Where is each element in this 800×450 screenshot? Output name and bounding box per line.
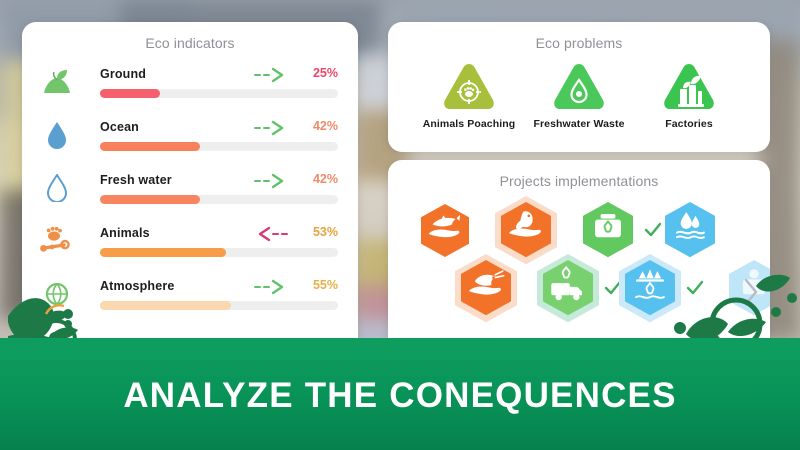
indicator-row[interactable]: Fresh water 42% bbox=[40, 171, 338, 224]
eco-indicators-list: Ground 25% Ocean 42% Fresh water bbox=[22, 51, 358, 330]
eco-indicators-card: Eco indicators Ground 25% Ocean 42% bbox=[22, 22, 358, 352]
eco-indicators-title: Eco indicators bbox=[22, 22, 358, 51]
trend-up-icon bbox=[254, 67, 288, 83]
eco-problem-label: Freshwater Waste bbox=[527, 118, 631, 130]
bottom-banner: ANALYZE THE CONEQUENCES bbox=[0, 338, 800, 450]
indicator-label: Ground bbox=[100, 67, 146, 81]
projects-card: Projects implementations bbox=[388, 160, 770, 352]
water-drop-icon bbox=[551, 61, 607, 113]
indicator-label: Animals bbox=[100, 226, 150, 240]
eco-problems-title: Eco problems bbox=[388, 22, 770, 51]
sprout-icon bbox=[40, 67, 74, 97]
atmosphere-icon bbox=[40, 279, 74, 309]
paw-track-icon bbox=[40, 226, 74, 256]
indicator-row[interactable]: Animals 53% bbox=[40, 224, 338, 277]
indicator-percent: 42% bbox=[290, 119, 338, 133]
trend-up-icon bbox=[254, 120, 288, 136]
trend-down-icon bbox=[254, 226, 288, 242]
indicator-progress-track bbox=[100, 89, 338, 98]
eco-problem-item[interactable]: Freshwater Waste bbox=[527, 61, 631, 130]
indicator-progress-track bbox=[100, 248, 338, 257]
indicator-row[interactable]: Atmosphere 55% bbox=[40, 277, 338, 330]
projects-grid bbox=[388, 189, 770, 339]
indicator-progress-track bbox=[100, 142, 338, 151]
paw-crosshair-icon bbox=[441, 61, 497, 113]
indicator-progress-fill bbox=[100, 195, 200, 204]
eco-problems-list: Animals Poaching Freshwater Waste Factor… bbox=[388, 51, 770, 130]
chevron-right-icon[interactable] bbox=[742, 277, 760, 312]
indicator-percent: 42% bbox=[290, 172, 338, 186]
water-drop-outline-icon bbox=[40, 173, 74, 203]
indicator-progress-fill bbox=[100, 301, 231, 310]
eco-problem-label: Factories bbox=[637, 118, 741, 130]
trend-up-icon bbox=[254, 173, 288, 189]
eco-problems-card: Eco problems Animals Poaching Freshwater… bbox=[388, 22, 770, 152]
indicator-progress-track bbox=[100, 301, 338, 310]
factory-icon bbox=[661, 61, 717, 113]
indicator-label: Ocean bbox=[100, 120, 139, 134]
indicator-progress-fill bbox=[100, 89, 160, 98]
indicator-row[interactable]: Ground 25% bbox=[40, 65, 338, 118]
project-check-icon bbox=[686, 279, 704, 302]
trend-up-icon bbox=[254, 279, 288, 295]
indicator-percent: 53% bbox=[290, 225, 338, 239]
eco-problem-item[interactable]: Animals Poaching bbox=[417, 61, 521, 130]
project-hex[interactable] bbox=[624, 259, 676, 321]
indicator-percent: 25% bbox=[290, 66, 338, 80]
eco-problem-item[interactable]: Factories bbox=[637, 61, 741, 130]
indicator-progress-track bbox=[100, 195, 338, 204]
app-screenshot: Eco indicators Ground 25% Ocean 42% bbox=[0, 0, 800, 450]
water-drop-filled-icon bbox=[40, 120, 74, 150]
project-hex[interactable] bbox=[542, 259, 594, 321]
eco-problem-label: Animals Poaching bbox=[417, 118, 521, 130]
indicator-row[interactable]: Ocean 42% bbox=[40, 118, 338, 171]
indicator-progress-fill bbox=[100, 248, 226, 257]
project-check-icon bbox=[644, 221, 662, 244]
indicator-label: Fresh water bbox=[100, 173, 172, 187]
project-hex[interactable] bbox=[460, 259, 512, 321]
indicator-progress-fill bbox=[100, 142, 200, 151]
projects-title: Projects implementations bbox=[388, 160, 770, 189]
indicator-label: Atmosphere bbox=[100, 279, 174, 293]
banner-text: ANALYZE THE CONEQUENCES bbox=[0, 376, 800, 416]
indicator-percent: 55% bbox=[290, 278, 338, 292]
